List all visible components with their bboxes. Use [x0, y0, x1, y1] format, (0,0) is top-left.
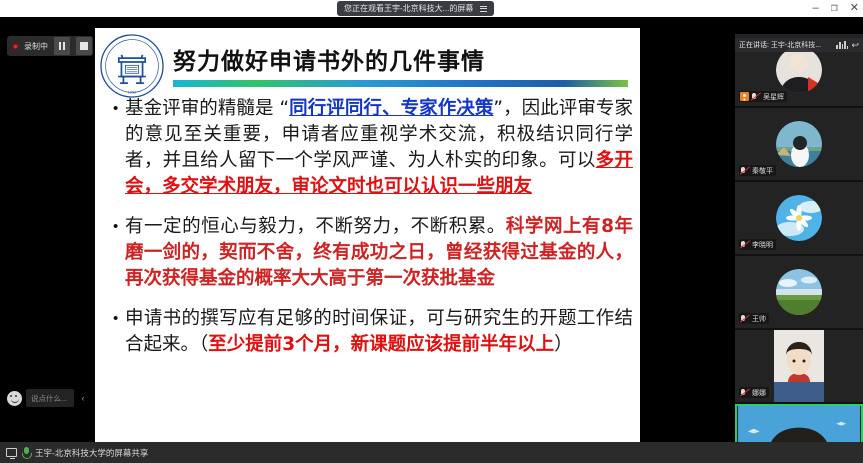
mic-muted-icon [740, 166, 750, 175]
text-segment-plain: 基金评审的精髓是 “ [125, 98, 289, 119]
text-segment-plain: 有一定的恒心与毅力，不断努力，不断积累。 [125, 216, 506, 237]
text-segment-blue: 同行评同行、专家作决策 [289, 98, 493, 119]
meeting-stage: 录制中 说点什么... ‹ [0, 17, 863, 442]
recording-indicator: 录制中 [7, 36, 93, 56]
slide-bullet: •申请书的撰写应有足够的时间保证，可与研究生的开题工作结合起来。（至少提前3个月… [113, 306, 633, 358]
participant-namebar: 娜娜 [739, 387, 769, 398]
bullet-text: 申请书的撰写应有足够的时间保证，可与研究生的开题工作结合起来。（至少提前3个月，… [125, 306, 633, 358]
active-speaker-label: 正在讲话: 王宇-北京科技... [739, 40, 821, 50]
avatar [774, 330, 824, 404]
participant-name: 娜娜 [752, 388, 766, 398]
participant-name: 李晓明 [752, 240, 773, 250]
screen-share-icon [6, 448, 17, 457]
svg-text:· 1952 ·: · 1952 · [126, 91, 139, 95]
avatar [776, 47, 822, 93]
pause-recording-button[interactable] [54, 37, 70, 55]
bullet-marker-icon: • [113, 96, 125, 200]
participant-tile[interactable]: 王帅 [735, 256, 863, 330]
participant-namebar: 吴星辉 [739, 91, 787, 102]
bullet-text: 基金评审的精髓是 “同行评同行、专家作决策”，因此评审专家的意见至关重要，申请者… [125, 96, 633, 200]
viewing-notice-text: 您正在观看王宇-北京科技大...的屏幕 [344, 3, 473, 14]
slide-title: 努力做好申请书外的几件事情 [173, 42, 625, 76]
participant-tile[interactable]: 娜娜 [735, 330, 863, 404]
avatar [776, 121, 822, 167]
shared-screen-slide: · 1952 · 努力做好申请书外的几件事情 •基金评审的精髓是 “同行评同行、… [95, 28, 640, 442]
hamburger-icon[interactable] [480, 6, 487, 12]
microphone-icon[interactable] [22, 447, 30, 458]
participant-name: 吴星辉 [763, 92, 784, 102]
stop-recording-button[interactable] [76, 37, 92, 55]
minimize-button[interactable]: – [812, 3, 818, 14]
participant-namebar: 王帅 [739, 313, 769, 324]
text-segment-red: 至少提前3个月，新课题应该提前半年以上 [208, 334, 554, 355]
active-speaker-banner: 正在讲话: 王宇-北京科技...↩ [735, 38, 863, 52]
host-icon [740, 92, 749, 101]
viewing-notice-pill[interactable]: 您正在观看王宇-北京科技大...的屏幕 [337, 1, 494, 16]
record-dot-icon [12, 43, 19, 50]
maximize-button[interactable]: ❐ [831, 5, 838, 13]
zoom-meeting-window: 您正在观看王宇-北京科技大...的屏幕 – ❐ ✕ 录制中 说点什么... ‹ [0, 0, 863, 463]
mic-muted-icon [740, 314, 750, 323]
bullet-marker-icon: • [113, 214, 125, 292]
mic-muted-icon [751, 92, 761, 101]
participant-namebar: 李晓明 [739, 239, 776, 250]
mic-muted-icon [740, 240, 750, 249]
slide-bullet: •有一定的恒心与毅力，不断努力，不断积累。科学网上有8年磨一剑的，契而不舍，终有… [113, 214, 633, 292]
bullet-marker-icon: • [113, 306, 125, 358]
close-button[interactable]: ✕ [850, 3, 859, 14]
participant-tile[interactable]: 秦敬平 [735, 108, 863, 182]
window-titlebar: 您正在观看王宇-北京科技大...的屏幕 – ❐ ✕ [0, 0, 863, 17]
slide-bullet-list: •基金评审的精髓是 “同行评同行、专家作决策”，因此评审专家的意见至关重要，申请… [113, 96, 633, 372]
audio-wave-icon [836, 41, 848, 49]
chat-bar: 说点什么... ‹ [7, 389, 88, 407]
slide-bullet: •基金评审的精髓是 “同行评同行、专家作决策”，因此评审专家的意见至关重要，申请… [113, 96, 633, 200]
bullet-text: 有一定的恒心与毅力，不断努力，不断积累。科学网上有8年磨一剑的，契而不舍，终有成… [125, 214, 633, 292]
mic-muted-icon [740, 388, 750, 397]
ustb-seal-logo: · 1952 · [99, 33, 165, 99]
chevron-left-icon[interactable]: ‹ [78, 393, 88, 403]
participant-tile[interactable]: 李晓明 [735, 182, 863, 256]
participant-name: 秦敬平 [752, 166, 773, 176]
participant-name: 王帅 [752, 314, 766, 324]
avatar [776, 269, 822, 315]
back-arrow-icon[interactable]: ↩ [851, 41, 859, 50]
chat-input[interactable]: 说点什么... [26, 389, 74, 407]
participant-namebar: 秦敬平 [739, 165, 776, 176]
smiley-icon[interactable] [7, 391, 22, 406]
title-underline-bar [173, 80, 628, 87]
window-controls: – ❐ ✕ [812, 0, 859, 17]
recording-label: 录制中 [24, 41, 48, 52]
participant-rail: 正在讲话: 王宇-北京科技...↩吴星辉秦敬平李晓明王帅娜娜个性设置，点我看看 [735, 34, 863, 459]
text-segment-plain: ） [554, 334, 573, 355]
avatar [776, 195, 822, 241]
screen-share-label: 王宇-北京科技大学的屏幕共享 [35, 447, 148, 459]
participant-tile[interactable]: 正在讲话: 王宇-北京科技...↩吴星辉 [735, 34, 863, 108]
screen-share-statusbar: 王宇-北京科技大学的屏幕共享 [0, 442, 863, 463]
